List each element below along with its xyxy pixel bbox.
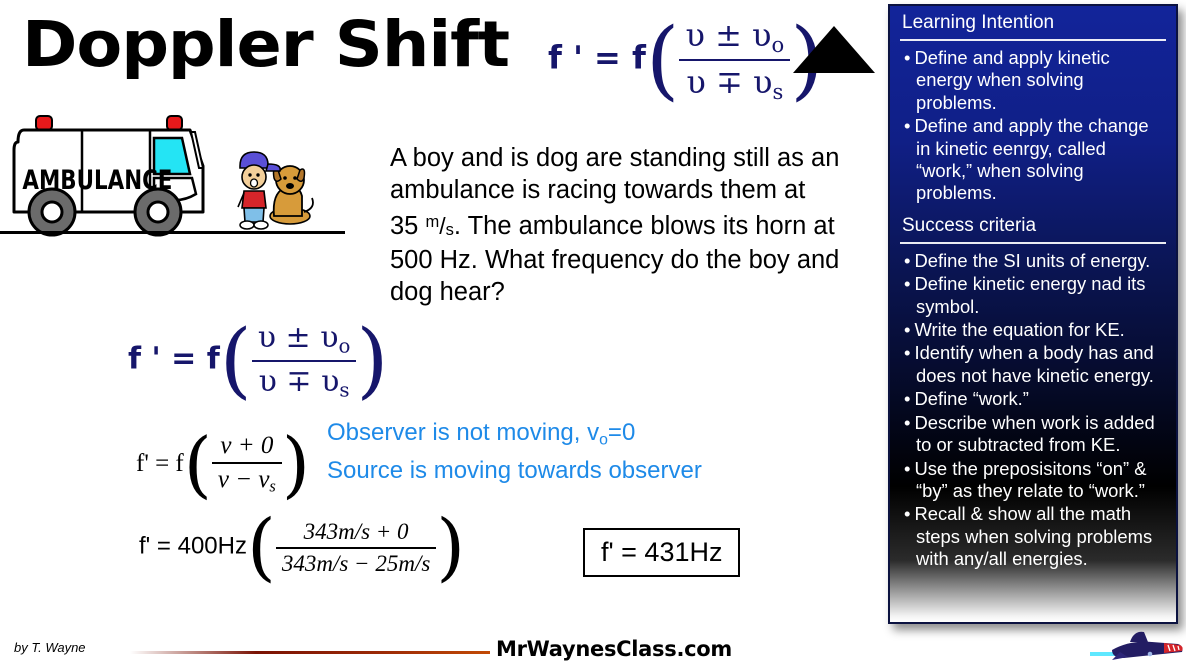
answer-box: f' = 431Hz — [583, 528, 740, 577]
formula-numerator: 343m/s + 0 — [276, 519, 436, 547]
list-item: Identify when a body has and does not ha… — [904, 342, 1166, 387]
list-item: Use the preposisitons “on” & “by” as the… — [904, 458, 1166, 503]
heading-divider — [900, 39, 1166, 41]
left-paren: ( — [184, 436, 212, 494]
list-item: Define and apply kinetic energy when sol… — [904, 47, 1166, 114]
formula-lhs: f ' = f — [128, 342, 220, 377]
problem-text-after: . The ambulance blows its horn at 500 Hz… — [390, 212, 839, 306]
right-paren: ) — [282, 436, 310, 494]
page-title: Doppler Shift — [22, 8, 509, 81]
annotation-observer: Observer is not moving, vo=0 — [327, 419, 635, 449]
ambulance-illustration: AMBULANCE — [0, 108, 360, 238]
doppler-general-formula-top: f ' = f(υ ± υoυ ∓ υs) — [548, 16, 824, 104]
success-criteria-list: Define the SI units of energy. Define ki… — [890, 250, 1176, 571]
formula-numerator: υ ± υo — [252, 320, 357, 360]
list-item: Write the equation for KE. — [904, 319, 1166, 341]
formula-denominator: υ ∓ υs — [252, 360, 357, 402]
list-item: Define and apply the change in kinetic e… — [904, 115, 1166, 205]
annotation-source: Source is moving towards observer — [327, 457, 702, 485]
learning-intention-heading: Learning Intention — [890, 6, 1176, 39]
list-item: Describe when work is added to or subtra… — [904, 412, 1166, 457]
right-paren: ) — [436, 518, 465, 577]
rocket-car-icon — [1090, 630, 1186, 669]
footer-credit: by T. Wayne — [14, 640, 86, 655]
formula-fraction: υ ± υoυ ∓ υs — [679, 16, 790, 104]
footer-rule-left — [130, 651, 490, 654]
formula-lhs: f ' = f — [548, 38, 646, 76]
triangle-icon — [793, 26, 875, 73]
formula-lhs: f' = f — [136, 450, 184, 477]
ground-line — [0, 231, 345, 234]
dog-figure — [270, 166, 313, 224]
list-item: Recall & show all the math steps when so… — [904, 503, 1166, 570]
footer-rule-right — [718, 651, 1118, 654]
footer-site-link[interactable]: MrWaynesClass.com — [496, 637, 732, 661]
speed-units: m/s — [425, 213, 453, 239]
left-paren: ( — [247, 518, 276, 577]
doppler-substituted-formula: f' = f(v + 0v − vs) — [136, 432, 310, 497]
ambulance-label: AMBULANCE — [22, 165, 172, 196]
formula-fraction: 343m/s + 0343m/s − 25m/s — [276, 519, 436, 577]
list-item: Define the SI units of energy. — [904, 250, 1166, 272]
heading-divider — [900, 242, 1166, 244]
success-criteria-heading: Success criteria — [890, 206, 1176, 242]
formula-denominator: v − vs — [212, 462, 282, 497]
formula-denominator: 343m/s − 25m/s — [276, 547, 436, 577]
left-paren: ( — [220, 327, 252, 394]
objectives-panel: Learning Intention Define and apply kine… — [888, 4, 1178, 624]
doppler-general-formula-mid: f ' = f(υ ± υoυ ∓ υs) — [128, 320, 388, 401]
formula-numerator: v + 0 — [212, 432, 282, 462]
learning-intention-list: Define and apply kinetic energy when sol… — [890, 47, 1176, 205]
doppler-numeric-formula: f' = 400Hz(343m/s + 0343m/s − 25m/s) — [139, 518, 465, 577]
right-paren: ) — [356, 327, 388, 394]
list-item: Define kinetic energy nad its symbol. — [904, 273, 1166, 318]
left-paren: ( — [646, 25, 680, 96]
formula-fraction: v + 0v − vs — [212, 432, 282, 497]
formula-fraction: υ ± υoυ ∓ υs — [252, 320, 357, 401]
problem-statement: A boy and is dog are standing still as a… — [390, 143, 842, 308]
formula-numerator: υ ± υo — [679, 16, 790, 59]
formula-denominator: υ ∓ υs — [679, 59, 790, 104]
formula-lhs: f' = 400Hz — [139, 533, 247, 560]
list-item: Define “work.” — [904, 388, 1166, 410]
